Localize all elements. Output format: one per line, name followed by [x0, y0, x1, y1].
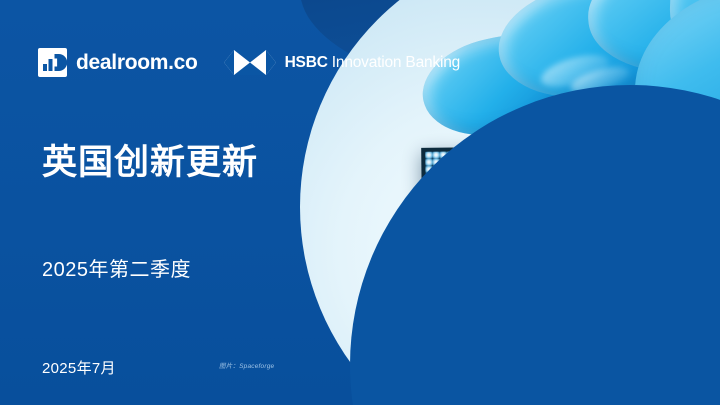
hsbc-brand-text: HSBC	[285, 54, 328, 71]
hsbc-hexagon-icon	[224, 50, 276, 75]
dealroom-bars-icon	[38, 48, 67, 77]
logo-row: dealroom.co HSBC Innovation Banking	[38, 48, 460, 77]
slide-subtitle: 2025年第二季度	[42, 253, 191, 282]
title-slide: dealroom.co HSBC Innovation Banking 英国创新…	[0, 0, 720, 405]
dealroom-wordmark: dealroom.co	[76, 51, 198, 75]
slide-title: 英国创新更新	[42, 143, 258, 183]
hsbc-wordmark: HSBC Innovation Banking	[285, 54, 460, 72]
hsbc-logo[interactable]: HSBC Innovation Banking	[224, 50, 460, 75]
image-credit: 图片：Spaceforge	[219, 360, 274, 370]
dealroom-logo[interactable]: dealroom.co	[38, 48, 198, 77]
hsbc-descriptor-text: Innovation Banking	[328, 54, 460, 71]
slide-date: 2025年7月	[42, 357, 116, 378]
